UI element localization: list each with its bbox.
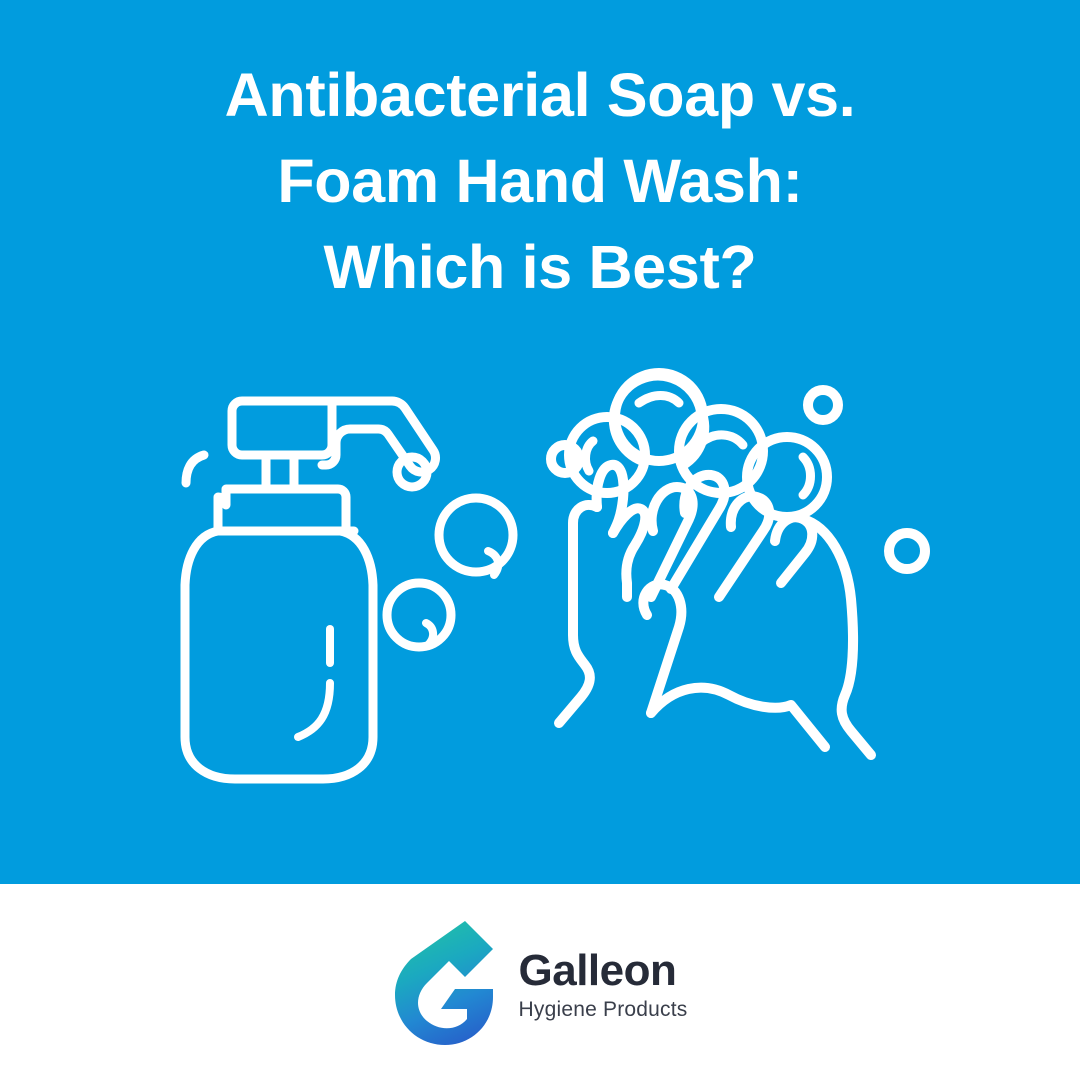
bottle-body-icon [185, 531, 373, 779]
brand-logo[interactable]: Galleon Hygiene Products [0, 884, 1080, 1080]
left-hand-icon [559, 465, 645, 723]
page-title: Antibacterial Soap vs. Foam Hand Wash: W… [0, 52, 1080, 310]
brand-name: Galleon [519, 948, 688, 994]
bubble-group [387, 457, 513, 647]
title-line-1: Antibacterial Soap vs. [0, 52, 1080, 138]
right-hand-icon [643, 475, 871, 755]
brand-tagline: Hygiene Products [519, 997, 688, 1023]
dispenser-shine-icon [186, 455, 204, 483]
footer-bar: Galleon Hygiene Products [0, 884, 1080, 1080]
soap-dispenser-illustration [170, 365, 550, 785]
pump-stem-icon [266, 455, 294, 489]
foam-cluster-icon [569, 373, 827, 517]
hand-washing-illustration [535, 365, 955, 785]
bubble-right-icon [889, 533, 925, 569]
galleon-droplet-g-logo-icon [393, 919, 497, 1045]
bubble-large-icon [387, 583, 451, 647]
brand-wordmark: Galleon Hygiene Products [519, 942, 688, 1023]
bottle-highlight-icon [298, 629, 330, 737]
bubble-medium-icon [439, 498, 513, 575]
social-graphic-canvas: Antibacterial Soap vs. Foam Hand Wash: W… [0, 0, 1080, 1080]
title-line-3: Which is Best? [0, 224, 1080, 310]
bottle-collar-icon [218, 489, 354, 531]
title-line-2: Foam Hand Wash: [0, 138, 1080, 224]
bubble-top-right-icon [808, 390, 838, 420]
illustration-area [0, 340, 1080, 810]
